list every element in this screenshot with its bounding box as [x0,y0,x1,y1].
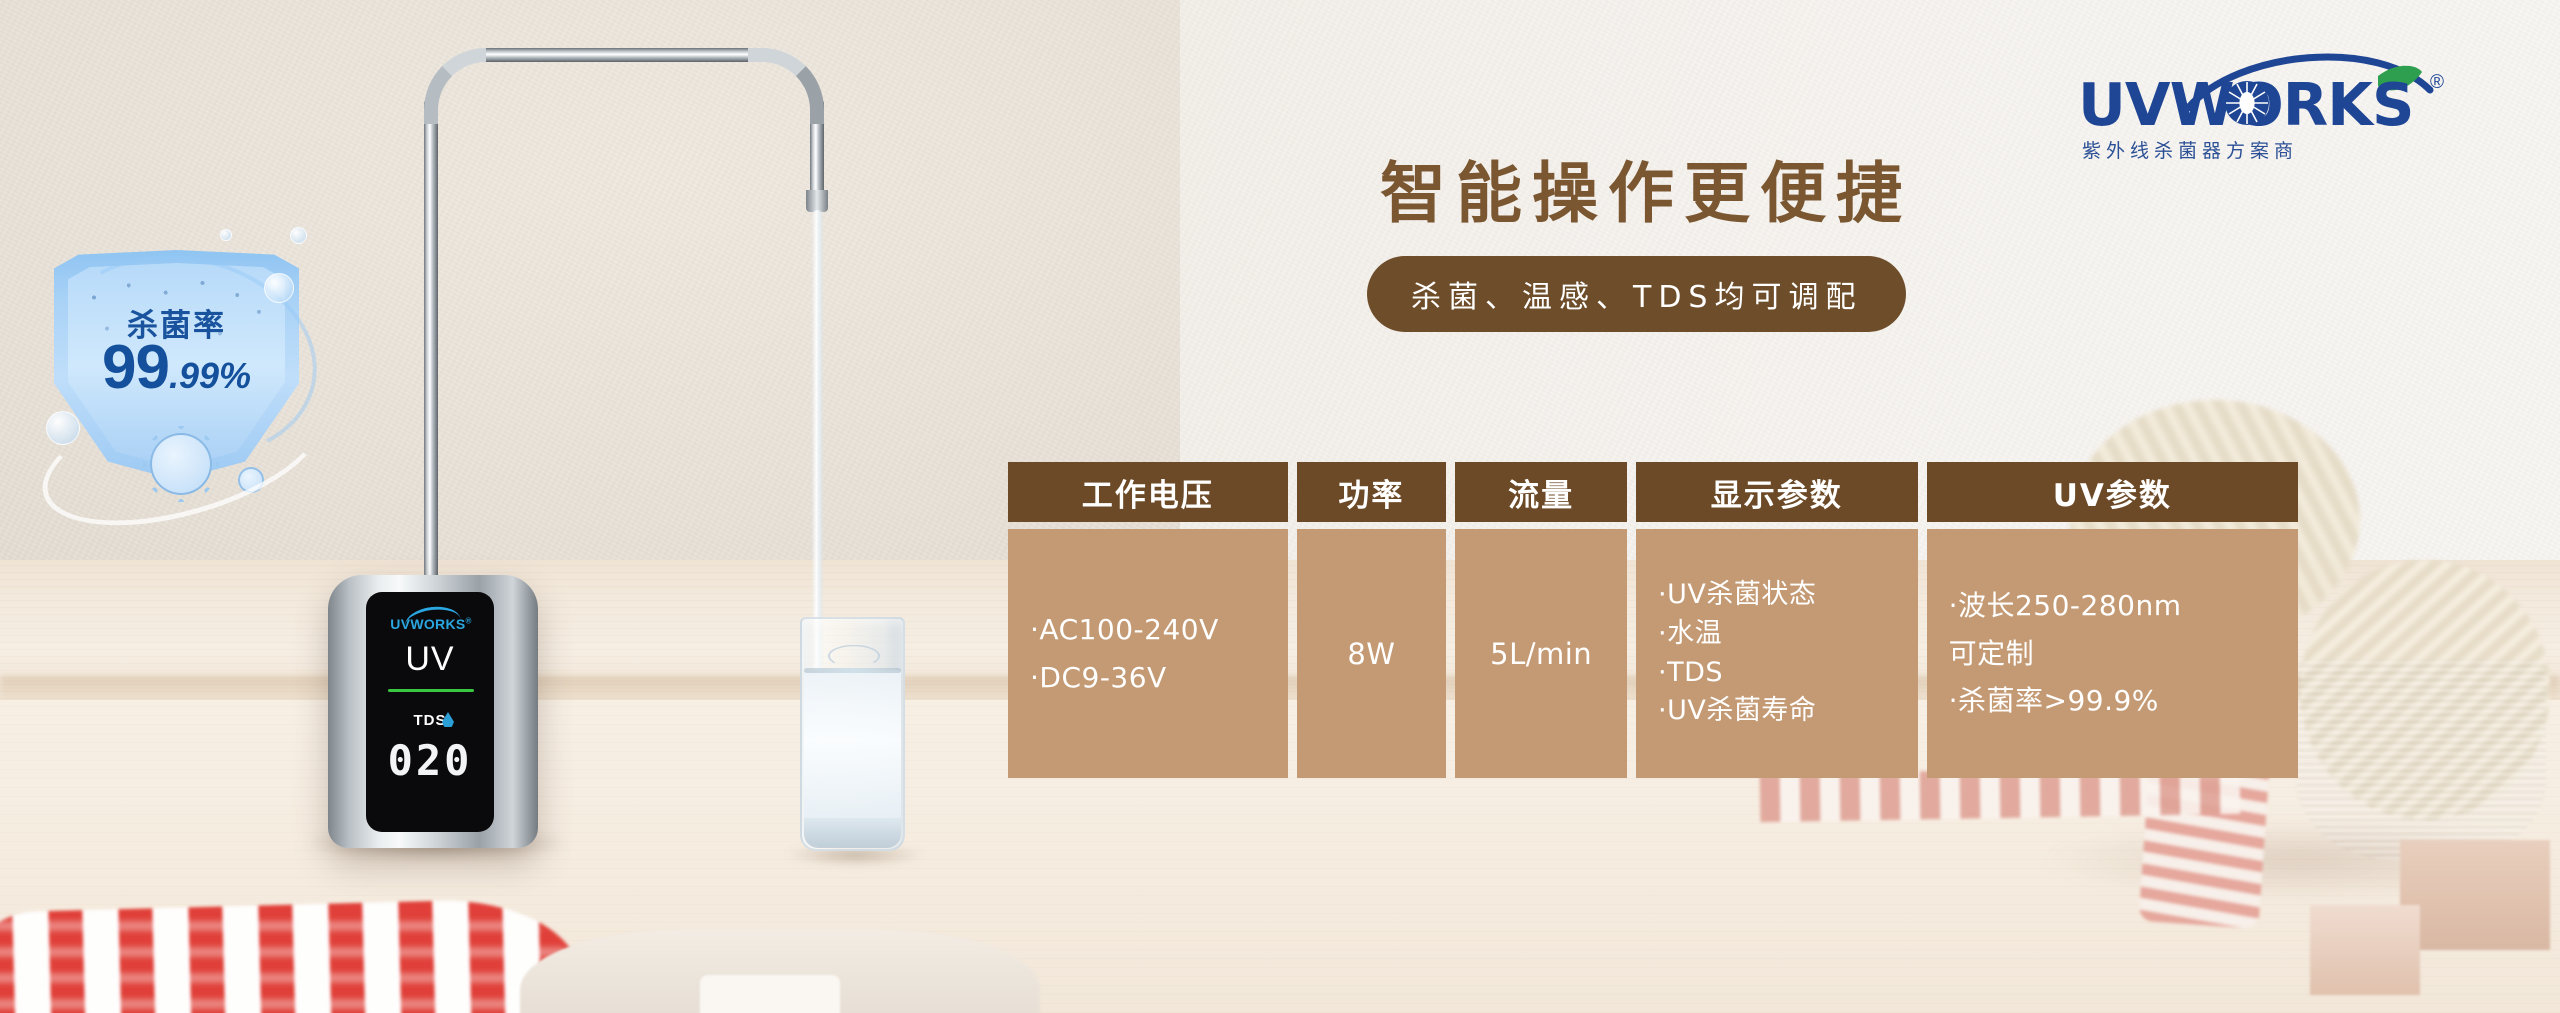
page-title: 智能操作更便捷 [1380,140,1912,236]
subtitle-pill: 杀菌、温感、TDS均可调配 [1367,256,1906,332]
spec-item: 可定制 [1949,636,2276,672]
spec-table: 工作电压 ·AC100-240V ·DC9-36V 功率 8W 流量 5L/mi… [1008,462,2298,778]
spec-header: 流量 [1455,462,1627,522]
spec-item: ·TDS [1658,656,1896,691]
glass-water-surface [804,668,901,673]
device-tds-label: TDS [366,712,494,729]
logo-registered-mark: ® [2430,72,2444,94]
sterilization-rate-badge: 杀菌率 99.99% [42,215,312,500]
sun-burst-icon [2224,80,2270,126]
glass-base [804,818,901,848]
device-mode-label: UV [366,640,494,679]
spec-body: 5L/min [1455,529,1627,778]
device-tds-value: 020 [366,736,494,785]
decor-block-a [2400,840,2550,950]
spec-value: 5L/min [1490,637,1592,671]
bubble-icon-2 [290,227,307,244]
water-stream [812,210,823,675]
spec-column-display: 显示参数 ·UV杀菌状态 ·水温 ·TDS ·UV杀菌寿命 [1636,462,1918,778]
woven-pot [2296,660,2546,860]
spec-item: ·DC9-36V [1030,660,1266,696]
checkered-cloth-shading [0,905,580,1013]
device-status-bar [388,689,474,692]
device-logo-registered-mark: ® [466,616,472,625]
bubble-icon-1 [264,273,294,303]
spec-item: ·波长250-280nm [1949,588,2276,624]
spec-header: 工作电压 [1008,462,1288,522]
spec-column-power: 功率 8W [1297,462,1447,778]
decor-block-b [2310,905,2420,995]
spec-item: ·杀菌率>99.9% [1949,683,2276,719]
water-splash [828,645,880,667]
badge-value-major: 99 [102,333,169,402]
bubble-icon-3 [46,411,80,445]
foreground-plate-highlight [700,975,840,1013]
spec-item: ·UV杀菌寿命 [1658,694,1896,729]
logo-wordmark: UVWORKS [2078,70,2478,139]
spec-body: ·AC100-240V ·DC9-36V [1008,529,1288,778]
spec-item: ·水温 [1658,617,1896,652]
faucet-left-pipe [424,100,438,620]
spec-column-voltage: 工作电压 ·AC100-240V ·DC9-36V [1008,462,1288,778]
spec-column-flow: 流量 5L/min [1455,462,1627,778]
device-logo-text: UVWORKS [390,616,465,632]
spec-item: ·AC100-240V [1030,612,1266,648]
spec-header: UV参数 [1927,462,2298,522]
spec-body: ·波长250-280nm 可定制 ·杀菌率>99.9% [1927,529,2298,778]
faucet-top-bar [486,48,748,62]
spec-body: ·UV杀菌状态 ·水温 ·TDS ·UV杀菌寿命 [1636,529,1918,778]
spec-column-uv: UV参数 ·波长250-280nm 可定制 ·杀菌率>99.9% [1927,462,2298,778]
faucet-nozzle [806,190,828,212]
bubble-icon-4 [220,229,232,241]
spec-header: 显示参数 [1636,462,1918,522]
spec-value: 8W [1347,637,1395,671]
brand-logo[interactable]: UVWORKS ® 紫外线杀菌器方案商 [2078,36,2498,146]
spec-header: 功率 [1297,462,1447,522]
device-logo: UVWORKS® [378,616,484,632]
logo-tagline: 紫外线杀菌器方案商 [2082,136,2474,163]
spec-item: ·UV杀菌状态 [1658,578,1896,613]
spec-body: 8W [1297,529,1447,778]
